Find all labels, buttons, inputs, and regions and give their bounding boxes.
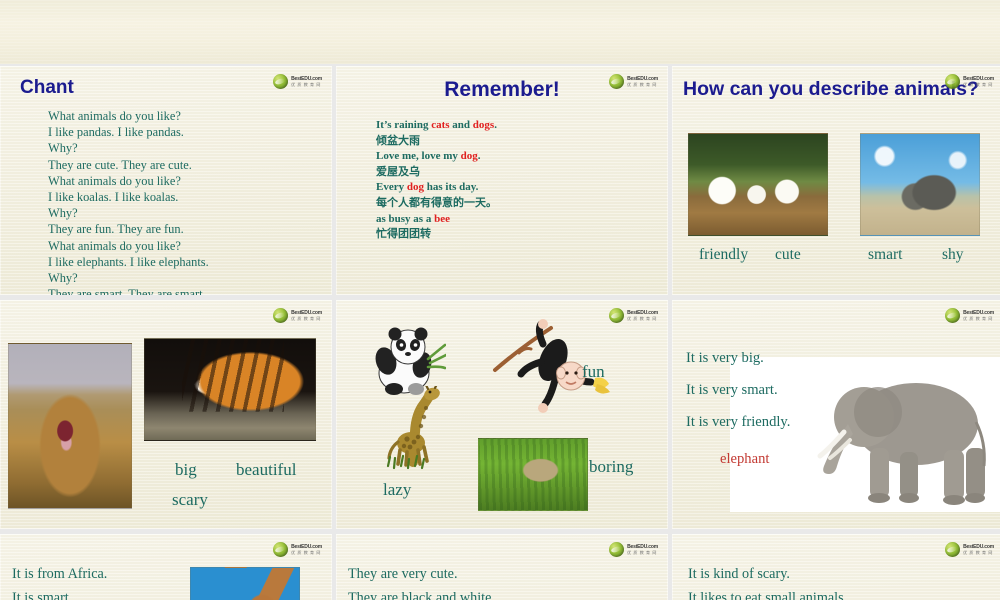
description-line: It is very smart.	[686, 374, 790, 406]
description-line: It likes to eat small animals.	[688, 586, 847, 600]
slide-grid: BestEDU.com 优 质 教 育 网 Chant What animals…	[0, 66, 1000, 600]
slide-giraffe-description[interactable]: BestEDU.com 优 质 教 育 网 It is from Africa.…	[0, 534, 332, 600]
slide-panda-description[interactable]: BestEDU.com 优 质 教 育 网 They are very cute…	[336, 534, 668, 600]
idiom-text: has its day.	[424, 181, 478, 193]
chant-line: Why?	[48, 205, 209, 221]
watermark-sub-text: 优 质 教 育 网	[627, 551, 658, 555]
watermark-sub-text: 优 质 教 育 网	[291, 317, 322, 321]
globe-icon	[609, 74, 624, 89]
idiom-text: and	[450, 119, 473, 131]
watermark-logo: BestEDU.com 优 质 教 育 网	[609, 308, 658, 323]
chant-lyrics: What animals do you like? I like pandas.…	[48, 108, 209, 295]
slide-elephant-description[interactable]: BestEDU.com 优 质 教 育 网	[672, 300, 1000, 529]
idiom-text: .	[478, 150, 481, 162]
giraffe-sky-photo	[190, 567, 300, 600]
description-line: They are very cute.	[348, 562, 495, 586]
chant-line: They are smart. They are smart.	[48, 286, 209, 295]
watermark-main-text: BestEDU.com	[291, 77, 322, 82]
chant-line: What animals do you like?	[48, 173, 209, 189]
globe-icon	[945, 74, 960, 89]
chant-line: I like koalas. I like koalas.	[48, 189, 209, 205]
watermark-logo: BestEDU.com 优 质 教 育 网	[273, 308, 322, 323]
description-line: It is from Africa.	[12, 562, 107, 586]
describe-word-smart: smart	[868, 246, 902, 264]
watermark-logo: BestEDU.com 优 质 教 育 网	[609, 542, 658, 557]
globe-icon	[273, 308, 288, 323]
watermark-logo: BestEDU.com 优 质 教 育 网	[273, 74, 322, 89]
slide-clipart-animals[interactable]: BestEDU.com 优 质 教 育 网	[336, 300, 668, 529]
giraffe-description-lines: It is from Africa. It is smart.	[12, 562, 107, 600]
slide-title-chant: Chant	[20, 77, 74, 99]
watermark-logo: BestEDU.com 优 质 教 育 网	[945, 74, 994, 89]
idiom-line: Love me, love my dog.	[376, 149, 497, 165]
idiom-keyword: dog	[407, 181, 424, 193]
chant-line: I like elephants. I like elephants.	[48, 254, 209, 270]
idiom-text: as busy as a	[376, 213, 434, 225]
idiom-keyword: dog	[461, 150, 478, 162]
slide-remember[interactable]: BestEDU.com 优 质 教 育 网 Remember! It’s rai…	[336, 66, 668, 295]
chant-line: Why?	[48, 270, 209, 286]
chant-line: They are fun. They are fun.	[48, 221, 209, 237]
idiom-line: It’s raining cats and dogs.	[376, 118, 497, 134]
lion-roaring-photo	[8, 343, 132, 509]
chant-line: Why?	[48, 140, 209, 156]
cat-word-big: big	[175, 460, 197, 480]
presentation-page: BestEDU.com 优 质 教 育 网 Chant What animals…	[0, 0, 1000, 600]
watermark-main-text: BestEDU.com	[291, 311, 322, 316]
description-line: They are black and white.	[348, 586, 495, 600]
idiom-keyword: bee	[434, 213, 450, 225]
globe-icon	[945, 308, 960, 323]
description-line: It is smart.	[12, 586, 107, 600]
watermark-sub-text: 优 质 教 育 网	[963, 83, 994, 87]
slide-describe-animals[interactable]: BestEDU.com 优 质 教 育 网 How can you descri…	[672, 66, 1000, 295]
watermark-main-text: BestEDU.com	[291, 545, 322, 550]
watermark-sub-text: 优 质 教 育 网	[291, 551, 322, 555]
elephant-savanna-photo	[860, 133, 980, 236]
idiom-list: It’s raining cats and dogs.倾盆大雨Love me, …	[376, 118, 497, 243]
idiom-text: Every	[376, 181, 407, 193]
idiom-keyword: dogs	[473, 119, 494, 131]
describe-word-friendly: friendly	[699, 246, 748, 264]
watermark-sub-text: 优 质 教 育 网	[963, 317, 994, 321]
giraffe-clipart	[380, 386, 460, 470]
watermark-logo: BestEDU.com 优 质 教 育 网	[609, 74, 658, 89]
chant-line: They are cute. They are cute.	[48, 157, 209, 173]
top-banner	[0, 0, 1000, 64]
idiom-translation: 忙得团团转	[376, 228, 431, 240]
puppies-photo	[688, 133, 828, 236]
elephant-cutout-photo	[804, 362, 1000, 510]
globe-icon	[273, 74, 288, 89]
watermark-main-text: BestEDU.com	[963, 77, 994, 82]
elephant-answer-label: elephant	[720, 451, 769, 468]
watermark-sub-text: 优 质 教 育 网	[963, 551, 994, 555]
clipart-word-boring: boring	[589, 457, 633, 477]
chant-line: What animals do you like?	[48, 238, 209, 254]
slide-title-describe: How can you describe animals?	[683, 78, 979, 101]
description-line: It is kind of scary.	[688, 562, 847, 586]
watermark-sub-text: 优 质 教 育 网	[627, 317, 658, 321]
idiom-translation: 每个人都有得意的一天。	[376, 197, 497, 209]
watermark-logo: BestEDU.com 优 质 教 育 网	[945, 542, 994, 557]
globe-icon	[609, 542, 624, 557]
idiom-line: Every dog has its day.	[376, 180, 497, 196]
idiom-line: 倾盆大雨	[376, 134, 497, 150]
idiom-translation: 爱屋及乌	[376, 166, 420, 178]
cat-word-scary: scary	[172, 490, 208, 510]
description-line: It is very friendly.	[686, 406, 790, 438]
cat-word-beautiful: beautiful	[236, 460, 296, 480]
watermark-main-text: BestEDU.com	[627, 77, 658, 82]
idiom-translation: 倾盆大雨	[376, 135, 420, 147]
watermark-sub-text: 优 质 教 育 网	[291, 83, 322, 87]
watermark-main-text: BestEDU.com	[627, 311, 658, 316]
idiom-text: It’s raining	[376, 119, 431, 131]
idiom-line: 忙得团团转	[376, 227, 497, 243]
description-line: It is very big.	[686, 342, 790, 374]
slide-tiger-description[interactable]: BestEDU.com 优 质 教 育 网 It is kind of scar…	[672, 534, 1000, 600]
idiom-keyword: cats	[431, 119, 449, 131]
globe-icon	[273, 542, 288, 557]
describe-word-shy: shy	[942, 246, 964, 264]
watermark-sub-text: 优 质 教 育 网	[627, 83, 658, 87]
panda-description-lines: They are very cute. They are black and w…	[348, 562, 495, 600]
watermark-main-text: BestEDU.com	[963, 311, 994, 316]
watermark-main-text: BestEDU.com	[627, 545, 658, 550]
watermark-main-text: BestEDU.com	[963, 545, 994, 550]
tiger-description-lines: It is kind of scary. It likes to eat sma…	[688, 562, 847, 600]
watermark-logo: BestEDU.com 优 质 教 育 网	[945, 308, 994, 323]
describe-word-cute: cute	[775, 246, 801, 264]
clipart-word-fun: fun	[582, 362, 605, 382]
globe-icon	[609, 308, 624, 323]
slide-big-cats[interactable]: BestEDU.com 优 质 教 育 网 big beautiful scar…	[0, 300, 332, 529]
globe-icon	[945, 542, 960, 557]
idiom-text: Love me, love my	[376, 150, 461, 162]
tiger-photo	[144, 338, 316, 441]
chant-line: I like pandas. I like pandas.	[48, 124, 209, 140]
idiom-text: .	[494, 119, 497, 131]
idiom-line: 爱屋及乌	[376, 165, 497, 181]
slide-chant[interactable]: BestEDU.com 优 质 教 育 网 Chant What animals…	[0, 66, 332, 295]
idiom-line: as busy as a bee	[376, 212, 497, 228]
clipart-word-lazy: lazy	[383, 480, 411, 500]
watermark-logo: BestEDU.com 优 质 教 育 网	[273, 542, 322, 557]
idiom-line: 每个人都有得意的一天。	[376, 196, 497, 212]
chant-line: What animals do you like?	[48, 108, 209, 124]
tortoise-grass-photo	[478, 438, 588, 511]
elephant-description-lines: It is very big. It is very smart. It is …	[686, 342, 790, 438]
